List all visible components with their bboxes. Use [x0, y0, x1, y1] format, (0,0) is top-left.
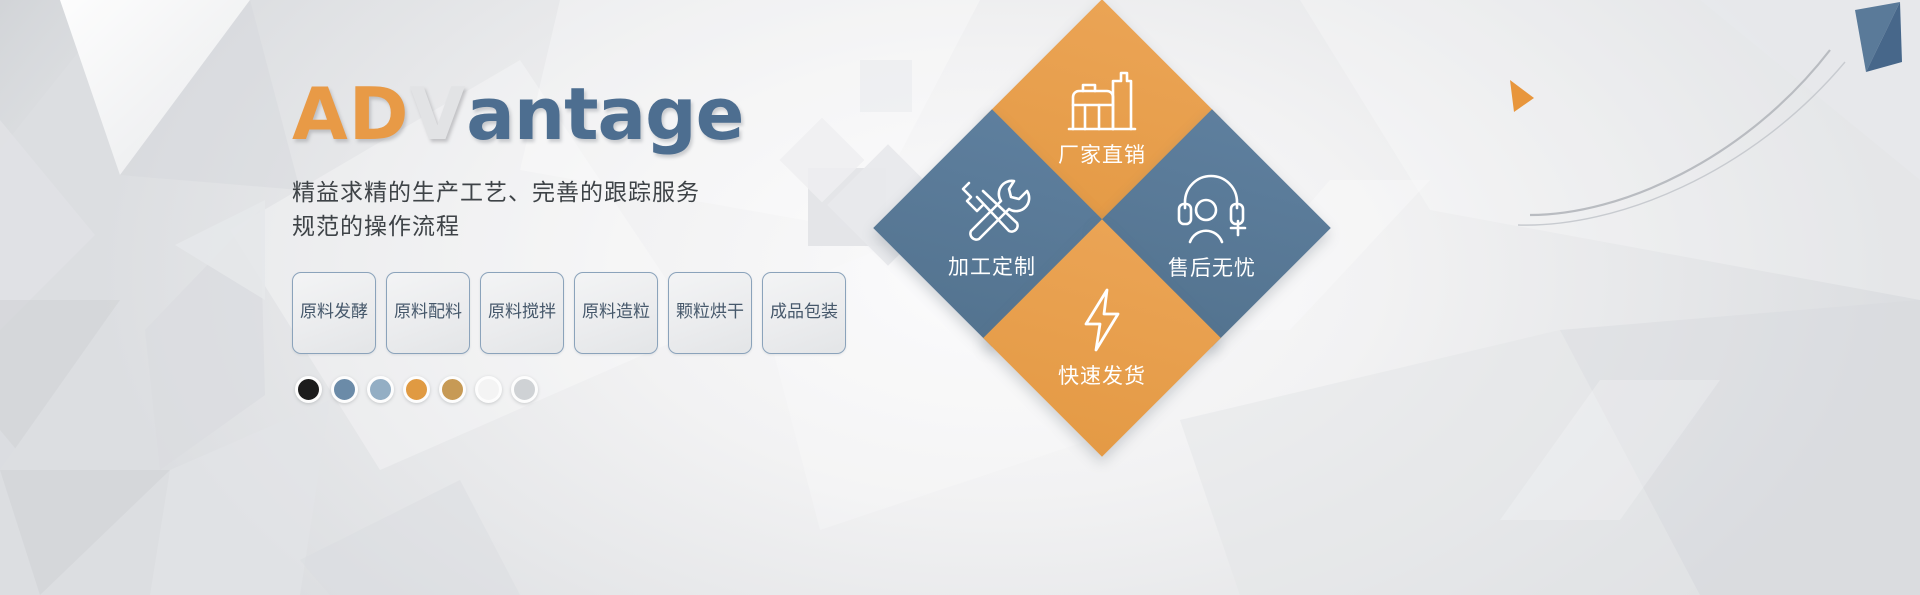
color-swatch-tan[interactable]: [439, 376, 466, 403]
process-step-3-label: 原料搅拌: [487, 303, 557, 323]
headset-icon: [1173, 174, 1251, 246]
subtitle-line-2: 规范的操作流程: [292, 210, 932, 244]
color-swatch-gray[interactable]: [511, 376, 538, 403]
process-step-6[interactable]: 成品包装: [762, 272, 846, 354]
tools-icon: [953, 175, 1031, 245]
process-step-2-label: 原料配料: [393, 303, 463, 323]
color-swatch-orange[interactable]: [403, 376, 430, 403]
process-step-5[interactable]: 颗粒烘干: [668, 272, 752, 354]
process-step-5-label: 颗粒烘干: [675, 303, 745, 323]
color-swatch-light-blue[interactable]: [367, 376, 394, 403]
process-step-6-label: 成品包装: [769, 303, 839, 323]
advantages-diamond-cluster: 厂家直销 加工定制: [900, 10, 1320, 430]
advantage-card-fastship[interactable]: 快速发货: [983, 219, 1221, 457]
process-step-1[interactable]: 原料发酵: [292, 272, 376, 354]
advantage-banner: ADVantage 精益求精的生产工艺、完善的跟踪服务 规范的操作流程 原料发酵…: [0, 0, 1920, 595]
headline-v: V: [410, 72, 467, 156]
process-step-2[interactable]: 原料配料: [386, 272, 470, 354]
process-step-4[interactable]: 原料造粒: [574, 272, 658, 354]
advantage-label-fastship: 快速发货: [1058, 360, 1146, 390]
color-swatch-steel-blue[interactable]: [331, 376, 358, 403]
lightning-icon: [1072, 286, 1132, 354]
left-content: ADVantage 精益求精的生产工艺、完善的跟踪服务 规范的操作流程 原料发酵…: [292, 78, 932, 403]
process-step-3[interactable]: 原料搅拌: [480, 272, 564, 354]
factory-icon: [1063, 67, 1141, 133]
process-step-4-label: 原料造粒: [581, 303, 651, 323]
process-steps-row: 原料发酵 原料配料 原料搅拌 原料造粒 颗粒烘干 成品包装: [292, 272, 932, 354]
headline-ad: AD: [292, 72, 410, 156]
process-step-1-label: 原料发酵: [299, 303, 369, 323]
color-swatch-white[interactable]: [475, 376, 502, 403]
headline-antage: antage: [466, 72, 743, 156]
color-swatch-row: [292, 376, 932, 403]
arrow-swoosh-decoration: [1500, 0, 1920, 300]
color-swatch-black[interactable]: [295, 376, 322, 403]
